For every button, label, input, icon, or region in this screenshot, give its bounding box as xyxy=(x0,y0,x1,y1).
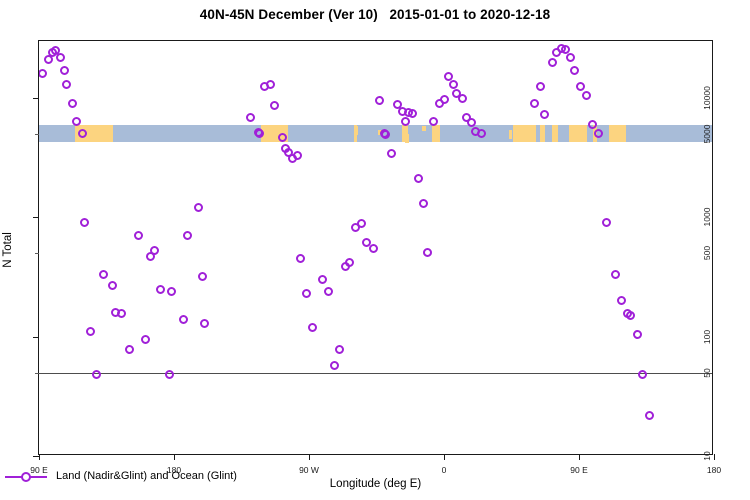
data-point xyxy=(548,58,557,67)
data-point xyxy=(308,323,317,332)
data-point xyxy=(423,248,432,257)
y-tick xyxy=(35,373,39,374)
data-point xyxy=(582,91,591,100)
data-point xyxy=(611,270,620,279)
legend-marker-line xyxy=(5,471,47,482)
data-point xyxy=(570,66,579,75)
band-ocean-segment xyxy=(113,125,262,142)
y-tick-label: 5000 xyxy=(702,124,712,143)
data-point xyxy=(156,285,165,294)
data-point xyxy=(626,311,635,320)
y-tick-label: 1000 xyxy=(702,208,712,227)
data-point xyxy=(86,327,95,336)
data-point xyxy=(293,151,302,160)
data-point xyxy=(449,80,458,89)
chart-canvas: 40N-45N December (Ver 10) 2015-01-01 to … xyxy=(0,0,750,500)
data-point xyxy=(458,94,467,103)
band-land-speck xyxy=(422,126,427,131)
data-point xyxy=(108,281,117,290)
data-point xyxy=(576,82,585,91)
y-tick xyxy=(35,134,39,135)
x-tick-label: 90 E xyxy=(570,465,588,475)
legend-label: Land (Nadir&Glint) and Ocean (Glint) xyxy=(56,470,237,482)
data-point xyxy=(638,370,647,379)
data-point xyxy=(318,275,327,284)
chart-title: 40N-45N December (Ver 10) 2015-01-01 to … xyxy=(0,7,750,22)
data-point xyxy=(179,315,188,324)
data-point xyxy=(375,96,384,105)
data-point xyxy=(150,246,159,255)
data-point xyxy=(369,244,378,253)
data-point xyxy=(56,53,65,62)
data-point xyxy=(246,113,255,122)
data-point xyxy=(62,80,71,89)
data-point xyxy=(414,174,423,183)
band-land-speck xyxy=(354,126,358,135)
band-ocean-segment xyxy=(545,125,553,142)
data-point xyxy=(566,53,575,62)
data-point xyxy=(324,287,333,296)
data-point xyxy=(92,370,101,379)
data-point xyxy=(183,231,192,240)
band-land-speck xyxy=(93,130,98,139)
x-tick-label: 90 W xyxy=(299,465,319,475)
band-ocean-segment xyxy=(288,125,354,142)
band-ocean-segment xyxy=(39,125,75,142)
x-tick xyxy=(444,454,445,460)
data-point xyxy=(270,101,279,110)
data-point xyxy=(99,270,108,279)
plot-clip xyxy=(39,41,712,454)
data-point xyxy=(134,231,143,240)
y-tick-label: 10 xyxy=(702,451,712,460)
y-tick-label: 500 xyxy=(702,246,712,260)
data-point xyxy=(330,361,339,370)
data-point xyxy=(357,219,366,228)
band-ocean-segment xyxy=(558,125,569,142)
data-point xyxy=(60,66,69,75)
data-point xyxy=(194,203,203,212)
band-land-speck xyxy=(609,130,613,135)
data-point xyxy=(440,95,449,104)
data-point xyxy=(141,335,150,344)
band-land-speck xyxy=(104,134,107,139)
data-point xyxy=(296,254,305,263)
data-point xyxy=(200,319,209,328)
x-tick xyxy=(579,454,580,460)
x-tick-label: 180 xyxy=(707,465,721,475)
data-point xyxy=(401,117,410,126)
data-point xyxy=(80,218,89,227)
data-point xyxy=(602,218,611,227)
data-point xyxy=(68,99,77,108)
legend: Land (Nadir&Glint) and Ocean (Glint) xyxy=(5,470,237,482)
data-point xyxy=(167,287,176,296)
data-point xyxy=(345,258,354,267)
band-land-speck xyxy=(570,126,575,135)
data-point xyxy=(467,118,476,127)
y-axis-label: N Total xyxy=(2,232,14,268)
band-land-speck xyxy=(509,130,512,139)
data-point xyxy=(588,120,597,129)
data-point xyxy=(408,109,417,118)
data-point xyxy=(419,199,428,208)
y-tick-label: 50 xyxy=(702,368,712,377)
x-tick xyxy=(714,454,715,460)
data-point xyxy=(125,345,134,354)
legend-marker-circle xyxy=(21,472,31,482)
x-tick-label: 0 xyxy=(442,465,447,475)
y-tick xyxy=(33,337,39,338)
data-point xyxy=(278,133,287,142)
band-ocean-segment xyxy=(408,125,432,142)
data-point xyxy=(540,110,549,119)
data-point xyxy=(198,272,207,281)
reference-line-50 xyxy=(39,373,712,374)
data-point xyxy=(633,330,642,339)
x-tick xyxy=(39,454,40,460)
y-tick xyxy=(33,98,39,99)
data-point xyxy=(117,309,126,318)
y-tick xyxy=(35,253,39,254)
data-point xyxy=(266,80,275,89)
y-tick-label: 100 xyxy=(702,330,712,344)
data-point xyxy=(645,411,654,420)
band-land-speck xyxy=(540,134,543,139)
x-tick xyxy=(309,454,310,460)
plot-area: 10000500010005001005010 90 E18090 W090 E… xyxy=(38,40,713,455)
band-land-speck xyxy=(405,134,409,143)
data-point xyxy=(617,296,626,305)
data-point xyxy=(302,289,311,298)
y-tick-label: 10000 xyxy=(702,86,712,110)
data-point xyxy=(39,69,47,78)
data-point xyxy=(335,345,344,354)
x-tick xyxy=(174,454,175,460)
data-point xyxy=(536,82,545,91)
band-ocean-segment xyxy=(626,125,713,142)
data-point xyxy=(387,149,396,158)
y-tick xyxy=(33,217,39,218)
data-point xyxy=(530,99,539,108)
data-point xyxy=(165,370,174,379)
